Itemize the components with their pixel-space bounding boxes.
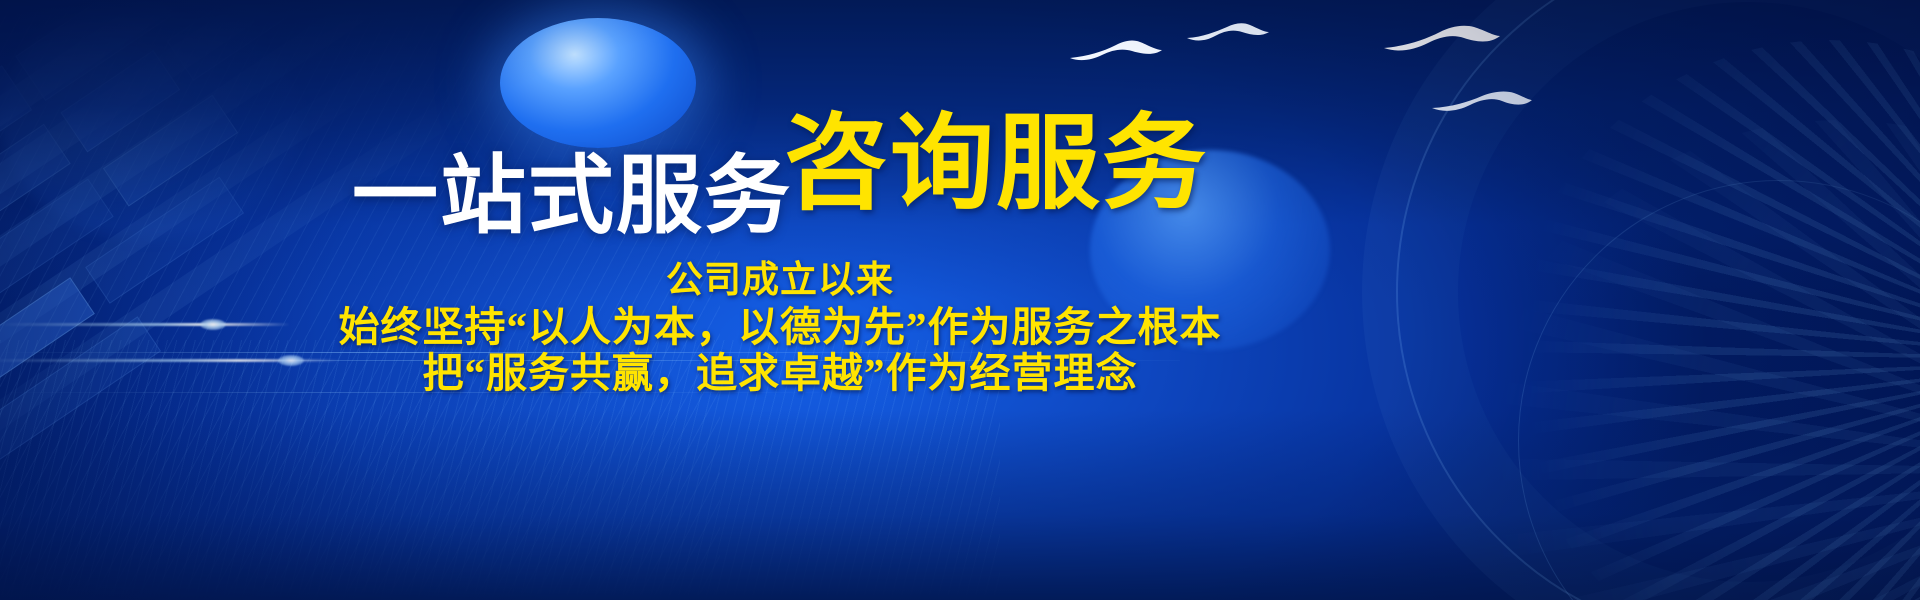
headline: 一站式服务咨询服务 — [0, 78, 1560, 229]
subtitle-block: 公司成立以来 始终坚持“以人为本，以德为先”作为服务之根本 把“服务共赢，追求卓… — [0, 258, 1560, 396]
subtitle-line-2: 始终坚持“以人为本，以德为先”作为服务之根本 — [0, 304, 1560, 350]
subtitle-line-1: 公司成立以来 — [0, 258, 1560, 304]
subtitle-line-3: 把“服务共赢，追求卓越”作为经营理念 — [0, 350, 1560, 396]
headline-yellow-text: 咨询服务 — [784, 107, 1208, 222]
headline-white-text: 一站式服务 — [352, 148, 792, 244]
promo-banner: 一站式服务咨询服务 公司成立以来 始终坚持“以人为本，以德为先”作为服务之根本 … — [0, 0, 1920, 600]
